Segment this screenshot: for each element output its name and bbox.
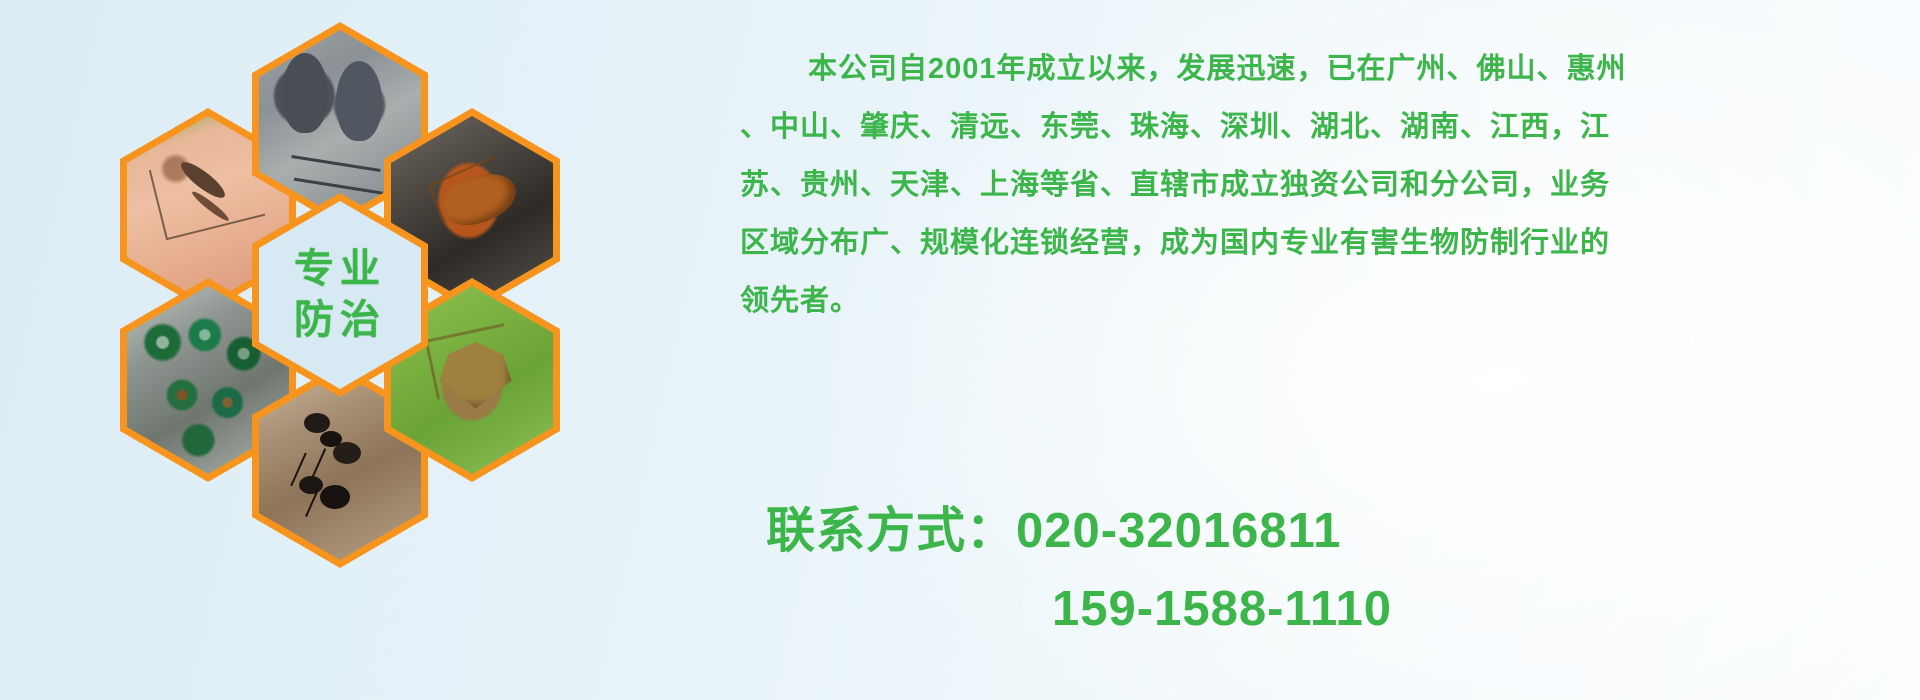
description-line-3: 苏、贵州、天津、上海等省、直辖市成立独资公司和分公司，业务: [740, 156, 1870, 214]
description-line-5: 领先者。: [740, 272, 1870, 330]
contact-phone-primary[interactable]: 联系方式：020-32016811: [766, 492, 1866, 570]
description-line-4: 区域分布广、规模化连锁经营，成为国内专业有害生物防制行业的: [740, 214, 1870, 272]
hex-inner-slogan: 专业 防治: [259, 201, 421, 389]
company-description: 本公司自2001年成立以来，发展迅速，已在广州、佛山、惠州 、中山、肇庆、清远、…: [740, 40, 1870, 330]
slogan-line-1: 专业: [294, 244, 386, 295]
honeycomb-gallery: 专业 防治: [0, 0, 720, 700]
contact-block: 联系方式：020-32016811 159-1588-1110: [766, 492, 1866, 648]
description-paragraph: 本公司自2001年成立以来，发展迅速，已在广州、佛山、惠州 、中山、肇庆、清远、…: [740, 40, 1870, 330]
description-line-1: 本公司自2001年成立以来，发展迅速，已在广州、佛山、惠州: [740, 40, 1870, 98]
slogan-line-2: 防治: [294, 295, 386, 346]
slogan: 专业 防治: [294, 244, 386, 346]
pest-control-banner: 专业 防治 本公司自2001年成立以来，发展迅速，已在广州、佛山、惠州 、中山、…: [0, 0, 1920, 700]
description-line-2: 、中山、肇庆、清远、东莞、珠海、深圳、湖北、湖南、江西，江: [740, 98, 1870, 156]
contact-phone-mobile[interactable]: 159-1588-1110: [766, 570, 1866, 648]
